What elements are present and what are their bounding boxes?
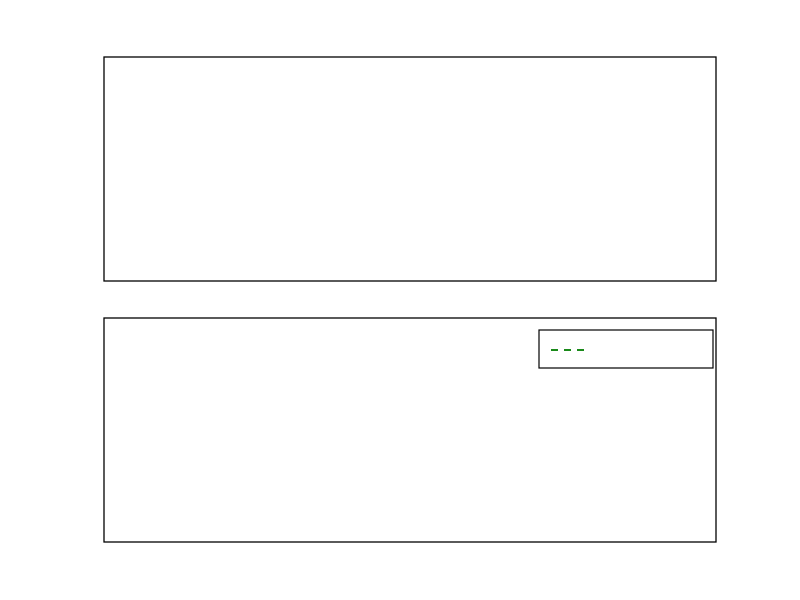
top-axes-frame [104,57,716,281]
figure-canvas [0,0,800,600]
plot-svg [0,0,800,600]
top-axes-differential-histogram [104,57,716,281]
bottom-axes-cumulative-histogram [0,0,716,542]
legend[interactable] [539,330,713,368]
